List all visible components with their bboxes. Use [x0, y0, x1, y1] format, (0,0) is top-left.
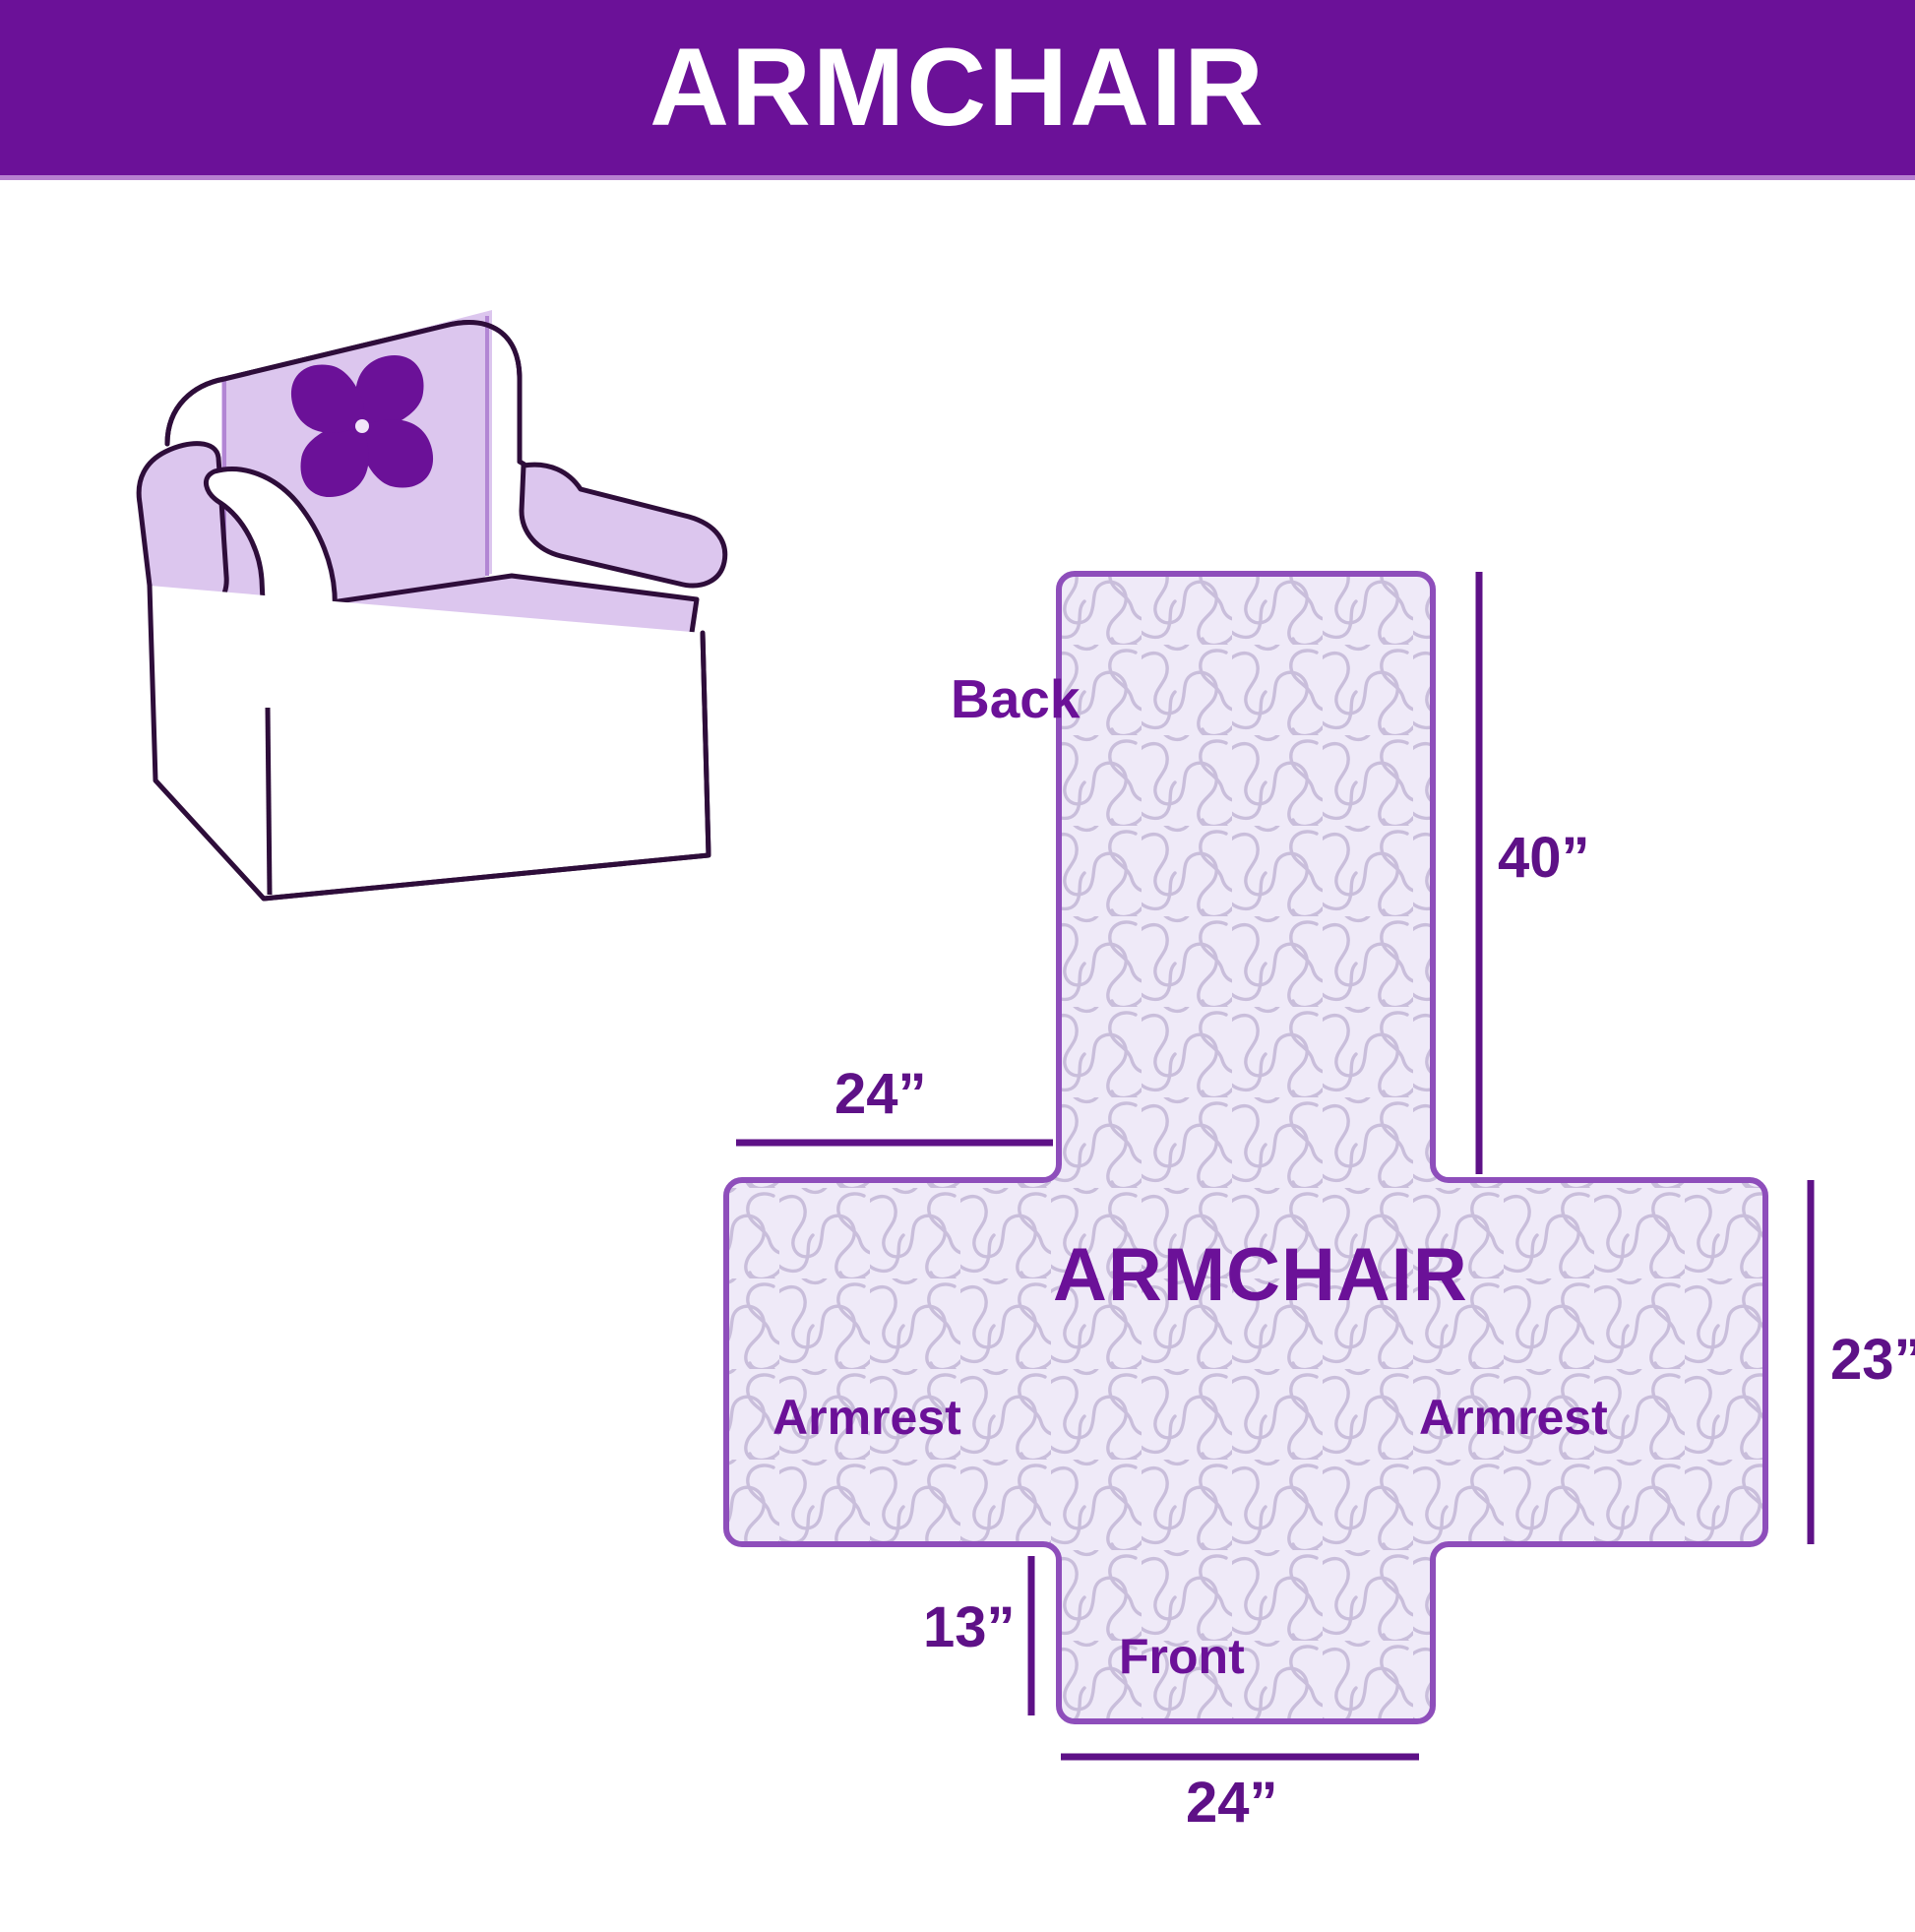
dimension-label-24in-top: 24” [834, 1066, 927, 1123]
panel-label-armrest-left: Armrest [772, 1393, 961, 1442]
header-banner: ARMCHAIR [0, 0, 1915, 175]
cover-cross-shape [726, 574, 1765, 1721]
slipcover-cross-diagram: Back ARMCHAIR Armrest Armrest Front 40” … [689, 554, 1870, 1932]
dimension-label-24in-bottom: 24” [1186, 1775, 1278, 1832]
page-title: ARMCHAIR [649, 32, 1266, 143]
diagram-stage: Back ARMCHAIR Armrest Armrest Front 40” … [0, 180, 1915, 1915]
pinwheel-flower-logo [291, 355, 433, 497]
pinwheel-hub [355, 419, 369, 433]
panel-label-armrest-right: Armrest [1419, 1393, 1608, 1442]
dimension-label-13in: 13” [923, 1599, 1016, 1656]
dimension-label-23in: 23” [1830, 1332, 1915, 1389]
panel-label-front: Front [1119, 1632, 1245, 1681]
chair-base-body [150, 586, 709, 899]
dimension-label-40in: 40” [1498, 830, 1590, 887]
panel-label-armchair-center: ARMCHAIR [1053, 1238, 1468, 1313]
chair-front-left-edge [268, 708, 270, 895]
panel-label-back: Back [951, 672, 1080, 726]
